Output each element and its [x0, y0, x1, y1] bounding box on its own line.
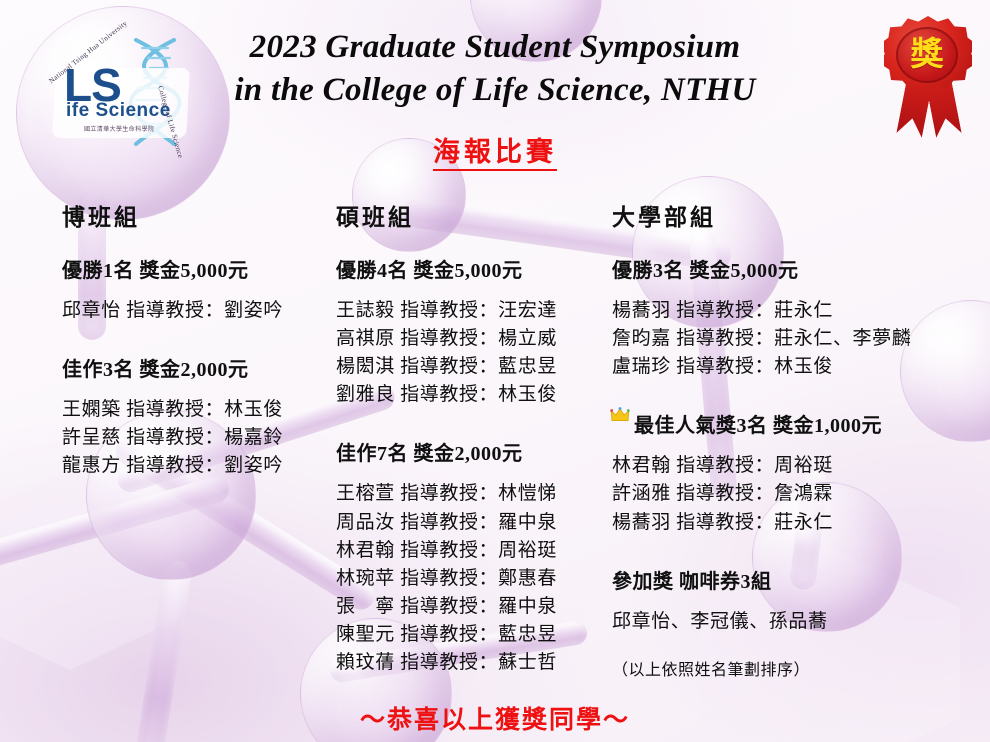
winner-list: 邱章怡 指導教授：劉姿吟 — [62, 297, 332, 325]
footer-text: ～恭喜以上獲獎同學～ — [360, 707, 630, 734]
winner-row: 王嫻築 指導教授：林玉俊 — [62, 396, 332, 424]
subtitle-text: 海報比賽 — [433, 137, 557, 171]
winner-list: 林君翰 指導教授：周裕珽許涵雅 指導教授：詹鴻霖楊蕎羽 指導教授：莊永仁 — [612, 452, 982, 536]
winner-row: 陳聖元 指導教授：藍忠昱 — [336, 621, 608, 649]
winner-row: 楊閎淇 指導教授：藍忠昱 — [336, 353, 608, 381]
winner-list: 王榕萱 指導教授：林愷悌周品汝 指導教授：羅中泉林君翰 指導教授：周裕珽林琬苹 … — [336, 480, 608, 677]
subtitle: 海報比賽 — [0, 130, 990, 169]
winner-row: 詹昀嘉 指導教授：莊永仁、李夢麟 — [612, 325, 982, 353]
sorting-note: （以上依照姓名筆劃排序） — [612, 656, 982, 680]
winner-row: 劉雅良 指導教授：林玉俊 — [336, 381, 608, 409]
award-heading: 優勝1名 獎金5,000元 — [62, 254, 332, 283]
winner-row: 林君翰 指導教授：周裕珽 — [336, 537, 608, 565]
winner-list: 王誌毅 指導教授：汪宏達高祺原 指導教授：楊立威楊閎淇 指導教授：藍忠昱劉雅良 … — [336, 297, 608, 409]
winner-row: 王誌毅 指導教授：汪宏達 — [336, 297, 608, 325]
winner-row: 楊蕎羽 指導教授：莊永仁 — [612, 297, 982, 325]
winner-row: 周品汝 指導教授：羅中泉 — [336, 509, 608, 537]
column-masters: 碩班組優勝4名 獎金5,000元王誌毅 指導教授：汪宏達高祺原 指導教授：楊立威… — [336, 198, 608, 697]
winner-row: 龍惠方 指導教授：劉姿吟 — [62, 452, 332, 480]
crown-icon — [610, 407, 630, 423]
poster-canvas: National Tsing Hua University College of… — [0, 0, 990, 742]
winner-row: 張 寧 指導教授：羅中泉 — [336, 593, 608, 621]
winner-row: 許涵雅 指導教授：詹鴻霖 — [612, 480, 982, 508]
group-title: 大學部組 — [612, 198, 982, 232]
footer-message: ～恭喜以上獲獎同學～ — [0, 700, 990, 736]
column-phd: 博班組優勝1名 獎金5,000元邱章怡 指導教授：劉姿吟佳作3名 獎金2,000… — [62, 198, 332, 500]
logo-wordmark: ife Science — [66, 100, 171, 122]
award-heading: 佳作7名 獎金2,000元 — [336, 437, 608, 466]
winner-row: 邱章怡、李冠儀、孫品蕎 — [612, 608, 982, 636]
winner-row: 高祺原 指導教授：楊立威 — [336, 325, 608, 353]
winner-row: 邱章怡 指導教授：劉姿吟 — [62, 297, 332, 325]
award-heading: 最佳人氣獎3名 獎金1,000元 — [612, 409, 982, 438]
winner-row: 林君翰 指導教授：周裕珽 — [612, 452, 982, 480]
winner-row: 王榕萱 指導教授：林愷悌 — [336, 480, 608, 508]
atom-top-edge — [470, 0, 602, 62]
award-heading: 優勝4名 獎金5,000元 — [336, 254, 608, 283]
award-ribbon-badge: 獎 — [876, 14, 980, 136]
award-heading: 優勝3名 獎金5,000元 — [612, 254, 982, 283]
column-undergraduate: 大學部組優勝3名 獎金5,000元楊蕎羽 指導教授：莊永仁詹昀嘉 指導教授：莊永… — [612, 198, 982, 680]
winner-row: 楊蕎羽 指導教授：莊永仁 — [612, 509, 982, 537]
group-title: 博班組 — [62, 198, 332, 232]
winner-row: 林琬苹 指導教授：鄭惠春 — [336, 565, 608, 593]
rosette-center: 獎 — [896, 27, 958, 83]
winner-list: 王嫻築 指導教授：林玉俊許呈慈 指導教授：楊嘉鈴龍惠方 指導教授：劉姿吟 — [62, 396, 332, 480]
award-heading: 佳作3名 獎金2,000元 — [62, 353, 332, 382]
badge-character: 獎 — [911, 39, 944, 72]
winner-row: 賴玟蒨 指導教授：蘇士哲 — [336, 649, 608, 677]
winner-list: 邱章怡、李冠儀、孫品蕎 — [612, 608, 982, 636]
award-heading: 參加獎 咖啡券3組 — [612, 565, 982, 594]
winner-row: 許呈慈 指導教授：楊嘉鈴 — [62, 424, 332, 452]
group-title: 碩班組 — [336, 198, 608, 232]
winner-list: 楊蕎羽 指導教授：莊永仁詹昀嘉 指導教授：莊永仁、李夢麟盧瑞珍 指導教授：林玉俊 — [612, 297, 982, 381]
winner-row: 盧瑞珍 指導教授：林玉俊 — [612, 353, 982, 381]
